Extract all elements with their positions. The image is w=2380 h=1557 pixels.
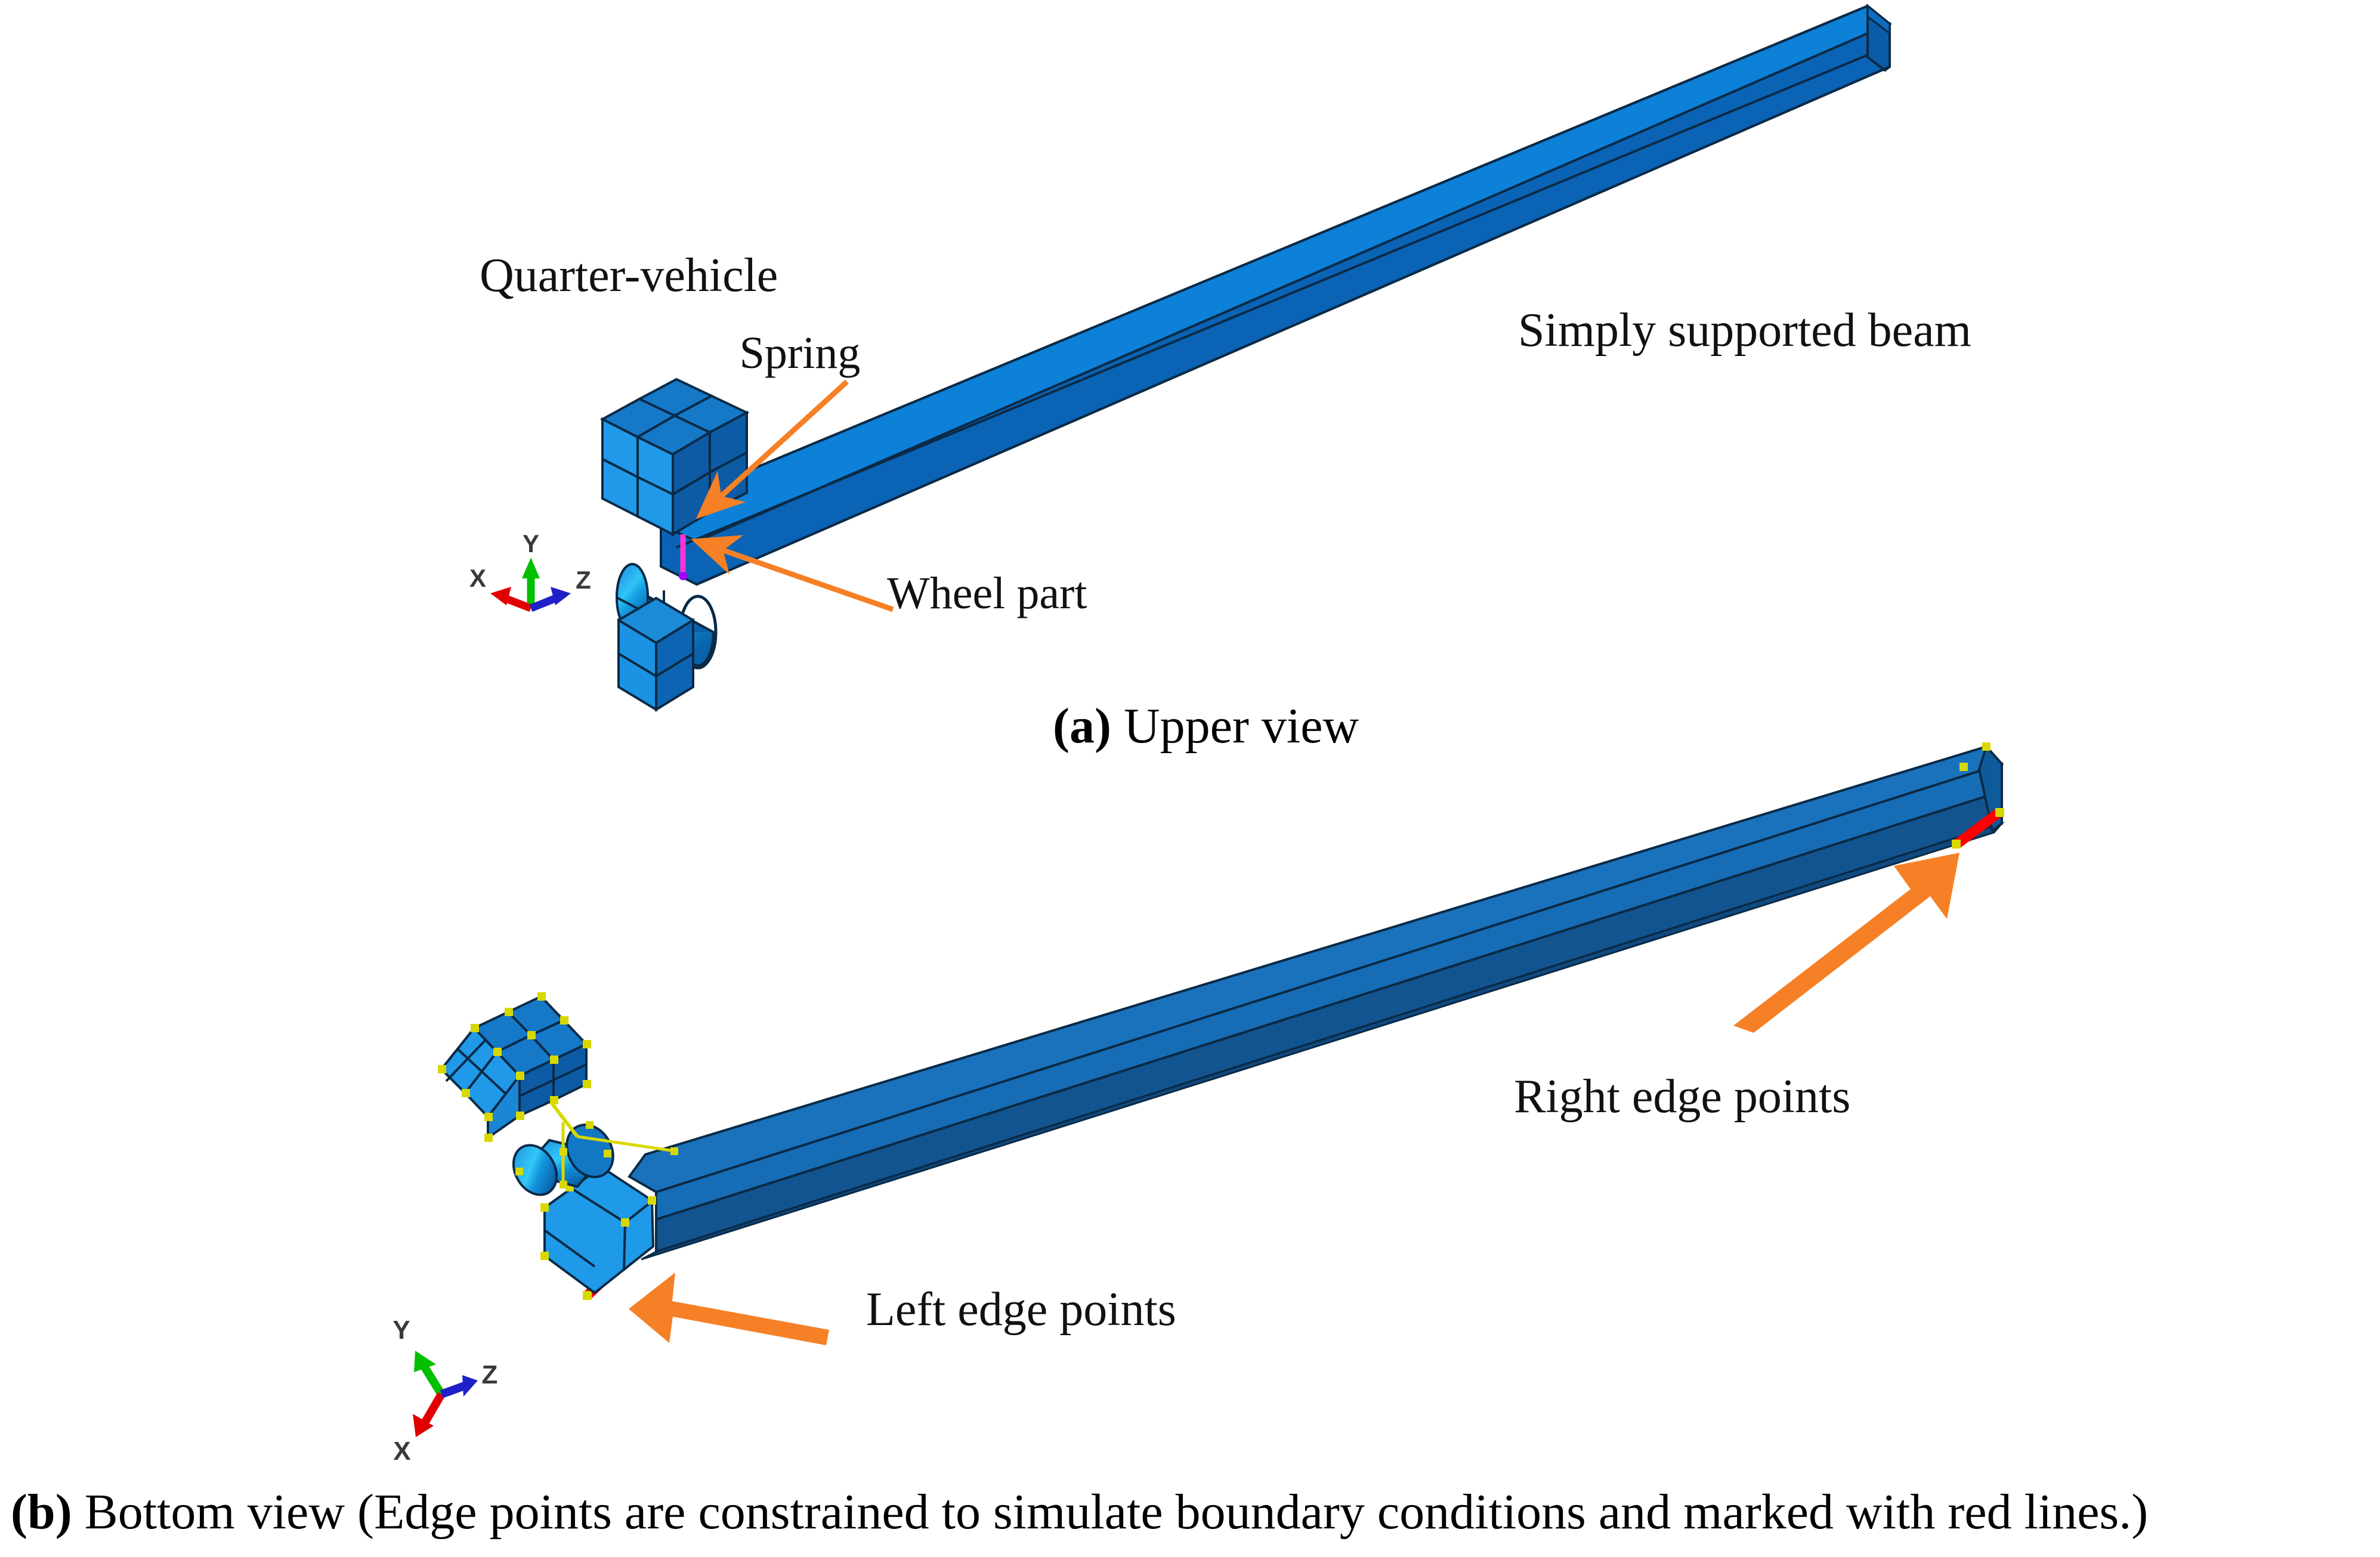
- figure-container: Spring Wheel part Quarter-vehicle Simply…: [0, 0, 2380, 1557]
- figure-background: [0, 0, 2380, 1557]
- right-edge-node-2: [1995, 808, 2004, 817]
- cube-b-node-8: [438, 1065, 446, 1073]
- axis-z-label: Z: [576, 566, 591, 594]
- cylinder-b-node-5: [560, 1181, 567, 1188]
- cube-b-node-2: [505, 1008, 513, 1016]
- caption-b-body: Bottom view (Edge points are constrained…: [72, 1484, 2149, 1540]
- support-block-b-node-1: [540, 1203, 549, 1212]
- label-wheel-part: Wheel part: [887, 568, 1087, 618]
- caption-b: (b) Bottom view (Edge points are constra…: [11, 1484, 2148, 1540]
- label-simply-supported-beam: Simply supported beam: [1518, 304, 1971, 357]
- cylinder-b-node-3: [560, 1148, 567, 1156]
- cube-b-node-14: [550, 1096, 558, 1104]
- cube-b-node-9: [462, 1089, 470, 1097]
- cube-b-node-7: [493, 1048, 502, 1056]
- label-quarter-vehicle: Quarter-vehicle: [480, 249, 778, 302]
- cube-b-node-6: [527, 1031, 536, 1039]
- cube-b-node-1: [471, 1024, 479, 1032]
- caption-b-prefix: (b): [11, 1484, 72, 1540]
- figure-svg: Spring Wheel part Quarter-vehicle Simply…: [0, 0, 2380, 1557]
- caption-a-body: Upper view: [1111, 698, 1359, 754]
- axis-b-y-label: Y: [392, 1315, 410, 1345]
- cube-b-node-12: [550, 1055, 558, 1064]
- axis-b-x-label: X: [393, 1437, 410, 1466]
- cube-b-node-11: [516, 1072, 524, 1080]
- label-left-edge-points: Left edge points: [866, 1283, 1176, 1336]
- cylinder-b-node-1: [586, 1121, 594, 1129]
- label-right-edge-points: Right edge points: [1514, 1070, 1850, 1123]
- label-spring: Spring: [740, 328, 861, 378]
- right-edge-node-1: [1952, 840, 1961, 849]
- spring-b-node: [670, 1147, 678, 1155]
- support-block-b-node-2: [540, 1252, 549, 1260]
- left-edge-node-1: [583, 1291, 592, 1300]
- right-edge-node-3: [1959, 763, 1968, 771]
- right-edge-node-4: [1982, 742, 1990, 751]
- caption-a: (a) Upper view: [1053, 698, 1359, 754]
- support-block-b-node-5: [621, 1218, 629, 1227]
- axis-x-label: X: [469, 564, 486, 592]
- wheel-support-block: [619, 598, 693, 710]
- caption-a-text: (a) Upper view: [1053, 698, 1359, 754]
- cube-b-node-10: [484, 1113, 493, 1121]
- axis-b-z-label: Z: [482, 1360, 498, 1389]
- cylinder-b-node-4: [515, 1168, 523, 1175]
- support-block-b-node-4: [648, 1196, 656, 1205]
- caption-b-text: (b) Bottom view (Edge points are constra…: [11, 1484, 2148, 1540]
- cube-b-node-13: [583, 1080, 591, 1088]
- cube-b-node-5: [583, 1040, 591, 1048]
- cube-b-node-15: [516, 1112, 524, 1120]
- spring-lower-node: [679, 572, 687, 580]
- cube-b-node-16: [484, 1134, 493, 1142]
- cube-b-node-4: [560, 1016, 568, 1024]
- cylinder-b-node-2: [604, 1150, 611, 1157]
- axis-y-label: Y: [523, 530, 539, 558]
- caption-a-prefix: (a): [1053, 698, 1111, 754]
- cube-b-node-3: [537, 992, 546, 1001]
